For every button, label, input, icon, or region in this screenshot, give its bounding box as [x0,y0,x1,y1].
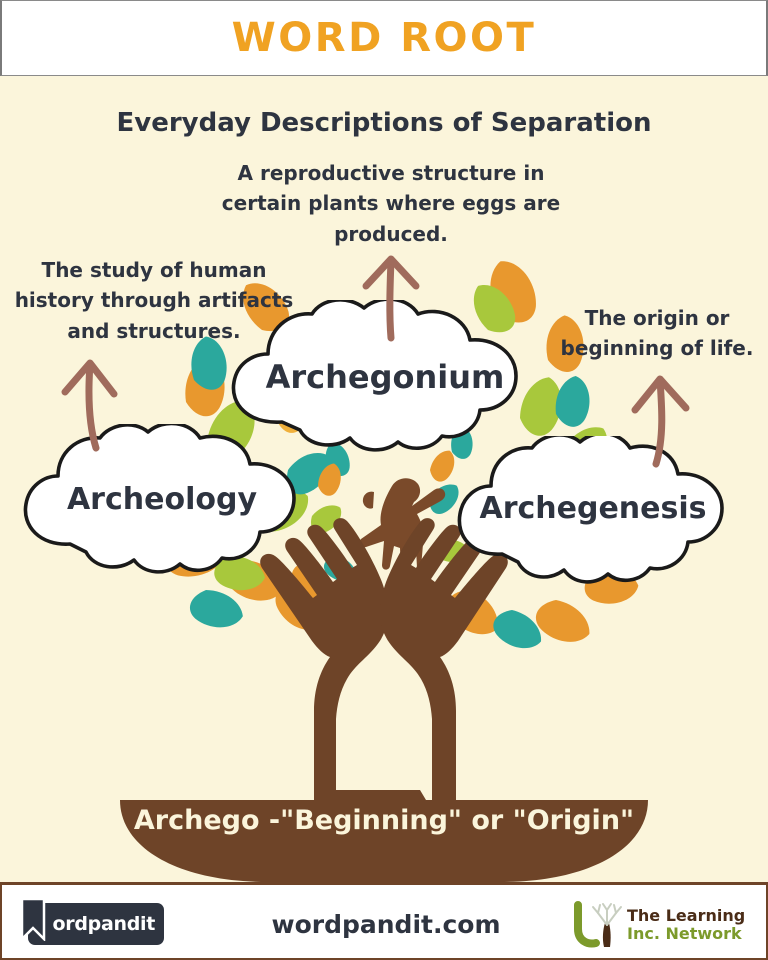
infographic-page: WORD ROOT Everyday Descriptions of Separ… [0,0,768,960]
wordpandit-logo[interactable]: ordpandit [28,903,164,945]
arrow-up-right-icon [622,368,704,468]
tln-line1: The Learning [627,907,745,925]
description-archegonium: A reproductive structure in certain plan… [196,158,586,249]
tln-logo-text: The Learning Inc. Network [627,907,745,943]
tln-line2: Inc. Network [627,925,745,943]
arrow-up-center-icon [352,250,430,342]
description-archeology: The study of human history through artif… [4,255,304,346]
description-archegenesis: The origin or beginning of life. [550,303,764,364]
the-learning-inc-network-logo[interactable]: The Learning Inc. Network [570,901,748,949]
footer-bar: ordpandit wordpandit.com The Learning In… [0,882,768,960]
root-word-text: Archego -"Beginning" or "Origin" [120,803,648,839]
tln-tree-u-icon [570,901,624,949]
wordpandit-logo-text: ordpandit [53,913,155,935]
arrow-up-left-icon [52,352,130,452]
wordpandit-bookmark-icon [20,897,46,941]
